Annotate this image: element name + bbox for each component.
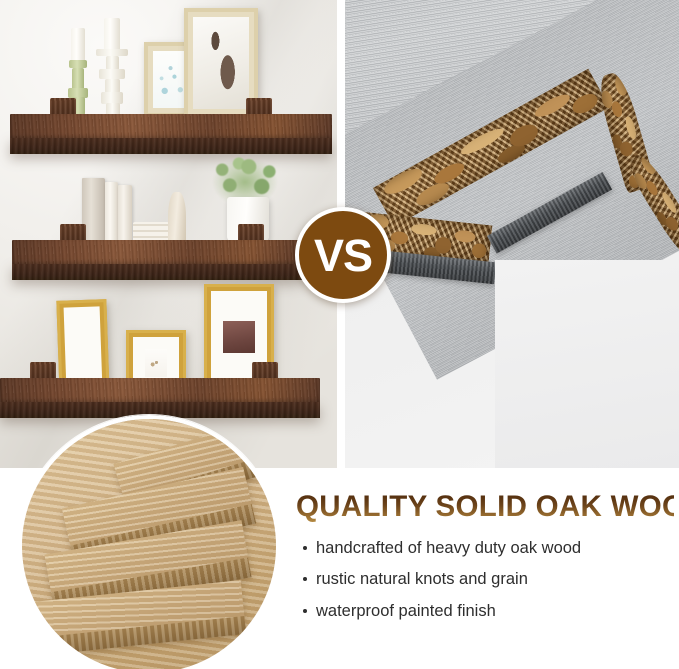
pillar-candle [71,28,85,62]
candle-holder-stem-2 [106,56,119,70]
shelf-board-top [10,114,332,156]
feature-bullet-item: handcrafted of heavy duty oak wood [296,540,674,557]
oak-boards-inset [18,415,280,669]
vs-badge: VS [295,207,391,303]
white-backdrop-sheet [495,260,679,470]
product-comparison-graphic: VS QUALITY SOLID OAK WOOD handcrafted of… [0,0,679,669]
portrait-artwork [193,17,249,109]
candle-holder-collar [69,60,87,68]
comparison-panels: VS [0,0,679,470]
group-photo [223,321,255,353]
candle-holder-plate [96,49,128,56]
candle-holder-stem [72,68,84,90]
candle-holder-knob-2 [99,69,125,79]
line-art-sketch [145,349,167,377]
feature-copy: QUALITY SOLID OAK WOOD handcrafted of he… [296,492,674,634]
shelf-board-middle [12,240,302,282]
candle-holder-stem-3 [105,79,120,93]
feature-bullet-item: waterproof painted finish [296,603,674,620]
feature-headline: QUALITY SOLID OAK WOOD [296,492,674,523]
particle-board-photo [345,0,679,470]
feature-bullet-list: handcrafted of heavy duty oak wood rusti… [296,540,674,620]
feature-bullet-item: rustic natural knots and grain [296,571,674,588]
feature-section: QUALITY SOLID OAK WOOD handcrafted of he… [0,470,679,669]
solid-oak-shelves-photo [0,0,337,470]
vs-badge-label: VS [314,233,372,278]
vintage-portrait-photo [89,335,90,361]
shelf-board-bottom [0,378,320,420]
